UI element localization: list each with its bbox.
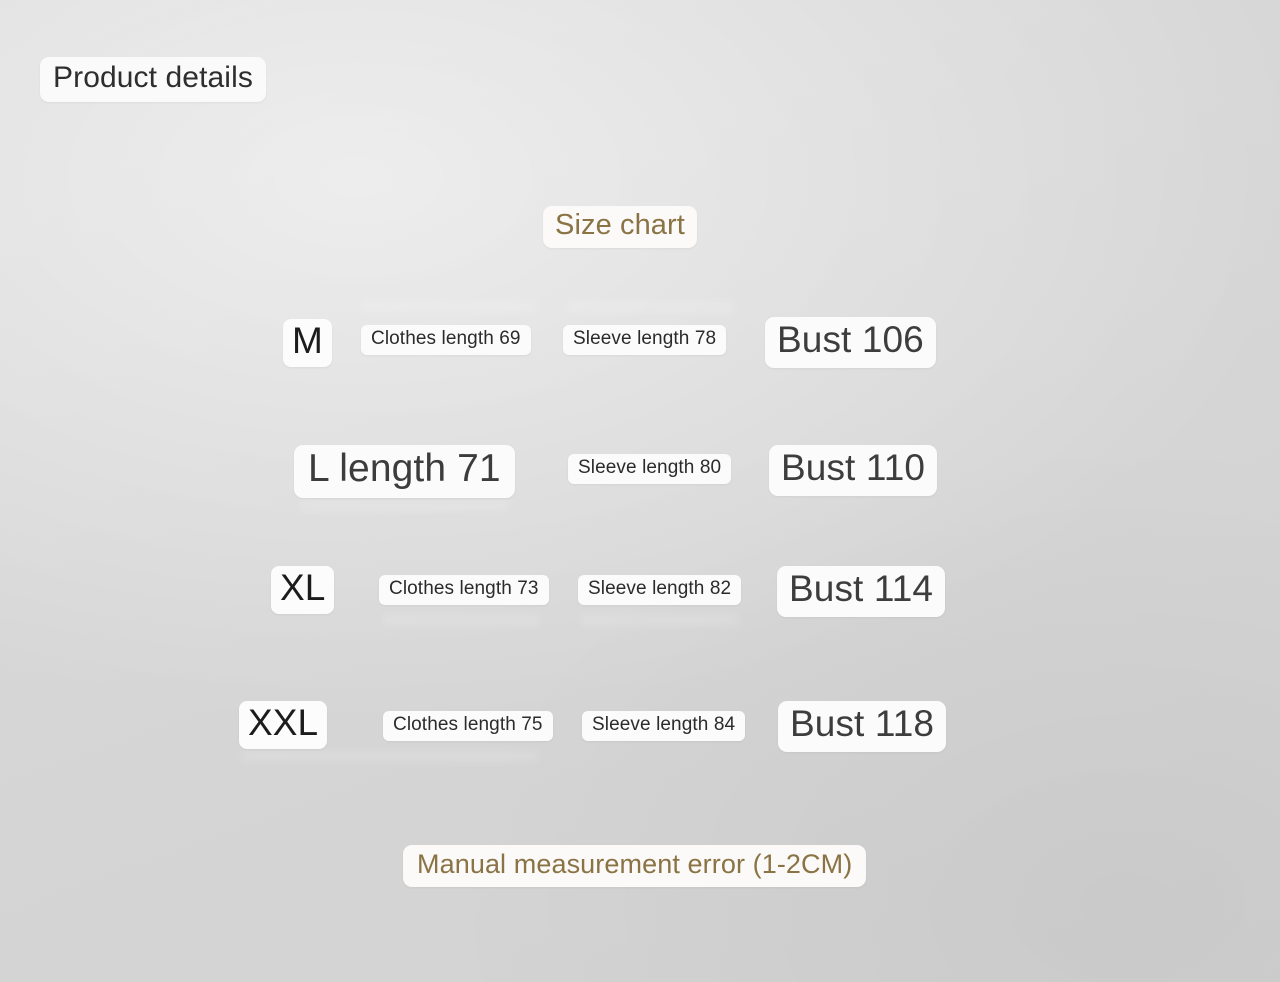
clothes-length-xl: Clothes length 73	[379, 575, 549, 605]
bust-xl: Bust 114	[777, 566, 945, 617]
sleeve-length-l: Sleeve length 80	[568, 454, 731, 484]
product-details-label: Product details	[40, 57, 266, 102]
size-label-m: M	[283, 319, 332, 367]
bust-xxl: Bust 118	[778, 701, 946, 752]
bust-m: Bust 106	[765, 317, 936, 368]
sleeve-length-xl: Sleeve length 82	[578, 575, 741, 605]
size-chart-title: Size chart	[543, 206, 697, 248]
bust-l: Bust 110	[769, 445, 937, 496]
sleeve-length-xxl: Sleeve length 84	[582, 711, 745, 741]
measurement-error-note: Manual measurement error (1-2CM)	[403, 845, 866, 887]
clothes-length-m: Clothes length 69	[361, 325, 531, 355]
size-length-merged-l: L length 71	[294, 445, 515, 498]
page-background	[0, 0, 1280, 982]
size-label-xxl: XXL	[239, 701, 327, 749]
clothes-length-xxl: Clothes length 75	[383, 711, 553, 741]
sleeve-length-m: Sleeve length 78	[563, 325, 726, 355]
size-label-xl: XL	[271, 566, 334, 614]
